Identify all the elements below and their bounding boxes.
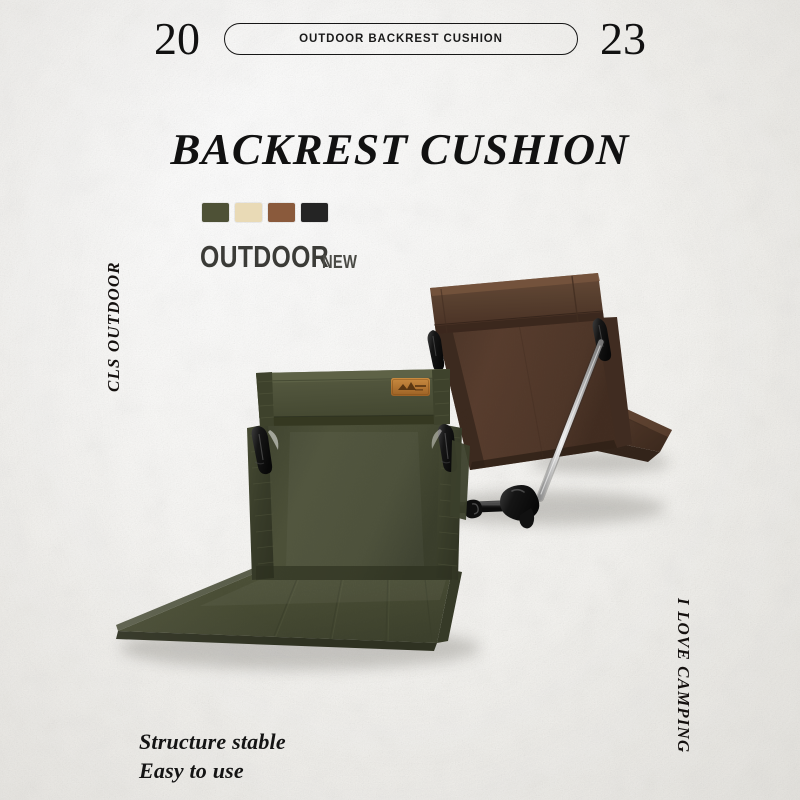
frame-stub-left	[438, 508, 452, 512]
brown-seat-pad	[574, 392, 672, 462]
brown-clip-left	[428, 330, 445, 371]
frame-assembly	[438, 342, 601, 528]
olive-seat-pad	[116, 567, 462, 651]
olive-backrest-cushion	[116, 369, 462, 651]
side-text-right: I LOVE CAMPING	[673, 598, 693, 753]
swatch-black[interactable]	[301, 203, 328, 222]
olive-clip-left	[252, 426, 273, 474]
olive-backrest-panel	[247, 424, 462, 580]
subheading-new-tag: NEW	[322, 253, 357, 272]
page-title: BACKREST CUSHION	[0, 124, 800, 175]
tagline: Structure stable Easy to use	[139, 727, 286, 785]
color-swatch-row	[202, 203, 328, 222]
product-shadow	[120, 451, 670, 670]
tube-hook-latch	[464, 500, 483, 519]
support-pole-silver	[540, 342, 601, 498]
olive-side-pocket	[450, 440, 470, 520]
subheading-row: OUTDOOR NEW	[200, 243, 365, 272]
brown-backrest-panel	[437, 317, 632, 470]
cross-tube-black	[452, 501, 524, 508]
tagline-line-1: Structure stable	[139, 727, 286, 756]
category-badge: OUTDOOR BACKREST CUSHION	[224, 23, 578, 55]
brand-label-patch	[391, 378, 430, 396]
olive-clip-right	[438, 424, 457, 472]
tagline-line-2: Easy to use	[139, 756, 286, 785]
olive-top-panel	[256, 369, 450, 426]
brown-backrest-cushion	[428, 273, 672, 470]
brown-clip-right	[593, 318, 612, 361]
swatch-brown[interactable]	[268, 203, 295, 222]
year-left: 20	[154, 16, 200, 62]
category-badge-label: OUTDOOR BACKREST CUSHION	[299, 33, 503, 45]
frame-hub-joint	[500, 485, 539, 528]
subheading-outdoor: OUTDOOR	[200, 243, 329, 272]
side-text-left: CLS OUTDOOR	[104, 261, 124, 392]
poster-canvas: 20 OUTDOOR BACKREST CUSHION 23 BACKREST …	[0, 0, 800, 800]
swatch-cream[interactable]	[235, 203, 262, 222]
year-right: 23	[600, 16, 646, 62]
swatch-olive-green[interactable]	[202, 203, 229, 222]
header-bar: 20 OUTDOOR BACKREST CUSHION 23	[0, 14, 800, 64]
brown-top-panel	[430, 273, 604, 334]
